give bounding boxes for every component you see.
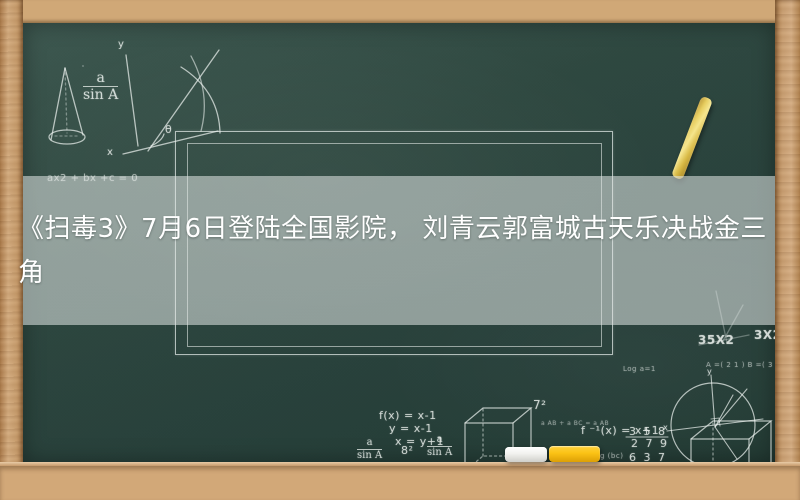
angle-theta-label: θ (165, 123, 172, 136)
frame-right-rail (775, 0, 800, 500)
frame-bottom-ledge (0, 466, 800, 500)
caption-band: 《扫毒3》7月6日登陆全国影院， 刘青云郭富城古天乐决战金三角 (23, 176, 775, 325)
arc-inner (191, 56, 204, 131)
caption-text: 《扫毒3》7月6日登陆全国影院， 刘青云郭富城古天乐决战金三角 (18, 207, 775, 295)
division-digits-3: 6 3 7 (629, 451, 667, 462)
frame-top-rail (0, 0, 800, 23)
fraction-numerator: a (427, 435, 452, 445)
axis-x-label: x (107, 147, 113, 158)
fraction-denominator: sin A (427, 448, 452, 459)
circle-axis-y-label: y (707, 367, 712, 376)
fraction-a-over-sinA-bl2: a sin A (427, 435, 452, 459)
matrix-row: A =( 2 1 ) B =( 3 1 ) = ( -1 1 ) (706, 361, 775, 369)
yellow-chalk[interactable] (549, 446, 600, 462)
fraction-denominator: sin A (357, 451, 382, 462)
cone-axis (65, 68, 67, 133)
circle-axis-x-label: x (663, 423, 668, 432)
fraction-numerator: a (357, 438, 382, 448)
division-digits-2: 2 7 9 (631, 437, 669, 450)
fraction-denominator: sin A (83, 88, 118, 103)
fraction-numerator: a (83, 71, 118, 85)
log-label: Log a=1 (623, 365, 656, 373)
axis-y-label: y (118, 39, 124, 50)
fraction-a-over-sinA-topleft: a sin A (83, 71, 118, 103)
chalkboard-image: a sin A y x θ ax2 + bx +c = 0 f(x) = x-1… (0, 0, 800, 500)
label-3x2: 3X2 (754, 328, 775, 342)
axis-y-line (126, 55, 138, 146)
function-line-1: f(x) = x-1 (379, 409, 437, 422)
cone-base-ellipse (49, 130, 85, 144)
cube-right (691, 421, 771, 462)
power-7-label: 7² (533, 398, 546, 412)
white-chalk[interactable] (505, 447, 547, 462)
function-line-2: y = x-1 (389, 422, 433, 435)
label-35x2: 35X2 (698, 333, 734, 347)
cone-left-edge (51, 68, 65, 140)
cone-right-edge (65, 68, 83, 135)
fraction-a-over-sinA-bl: a sin A (357, 438, 382, 462)
power-8-label: 8² (401, 444, 413, 457)
